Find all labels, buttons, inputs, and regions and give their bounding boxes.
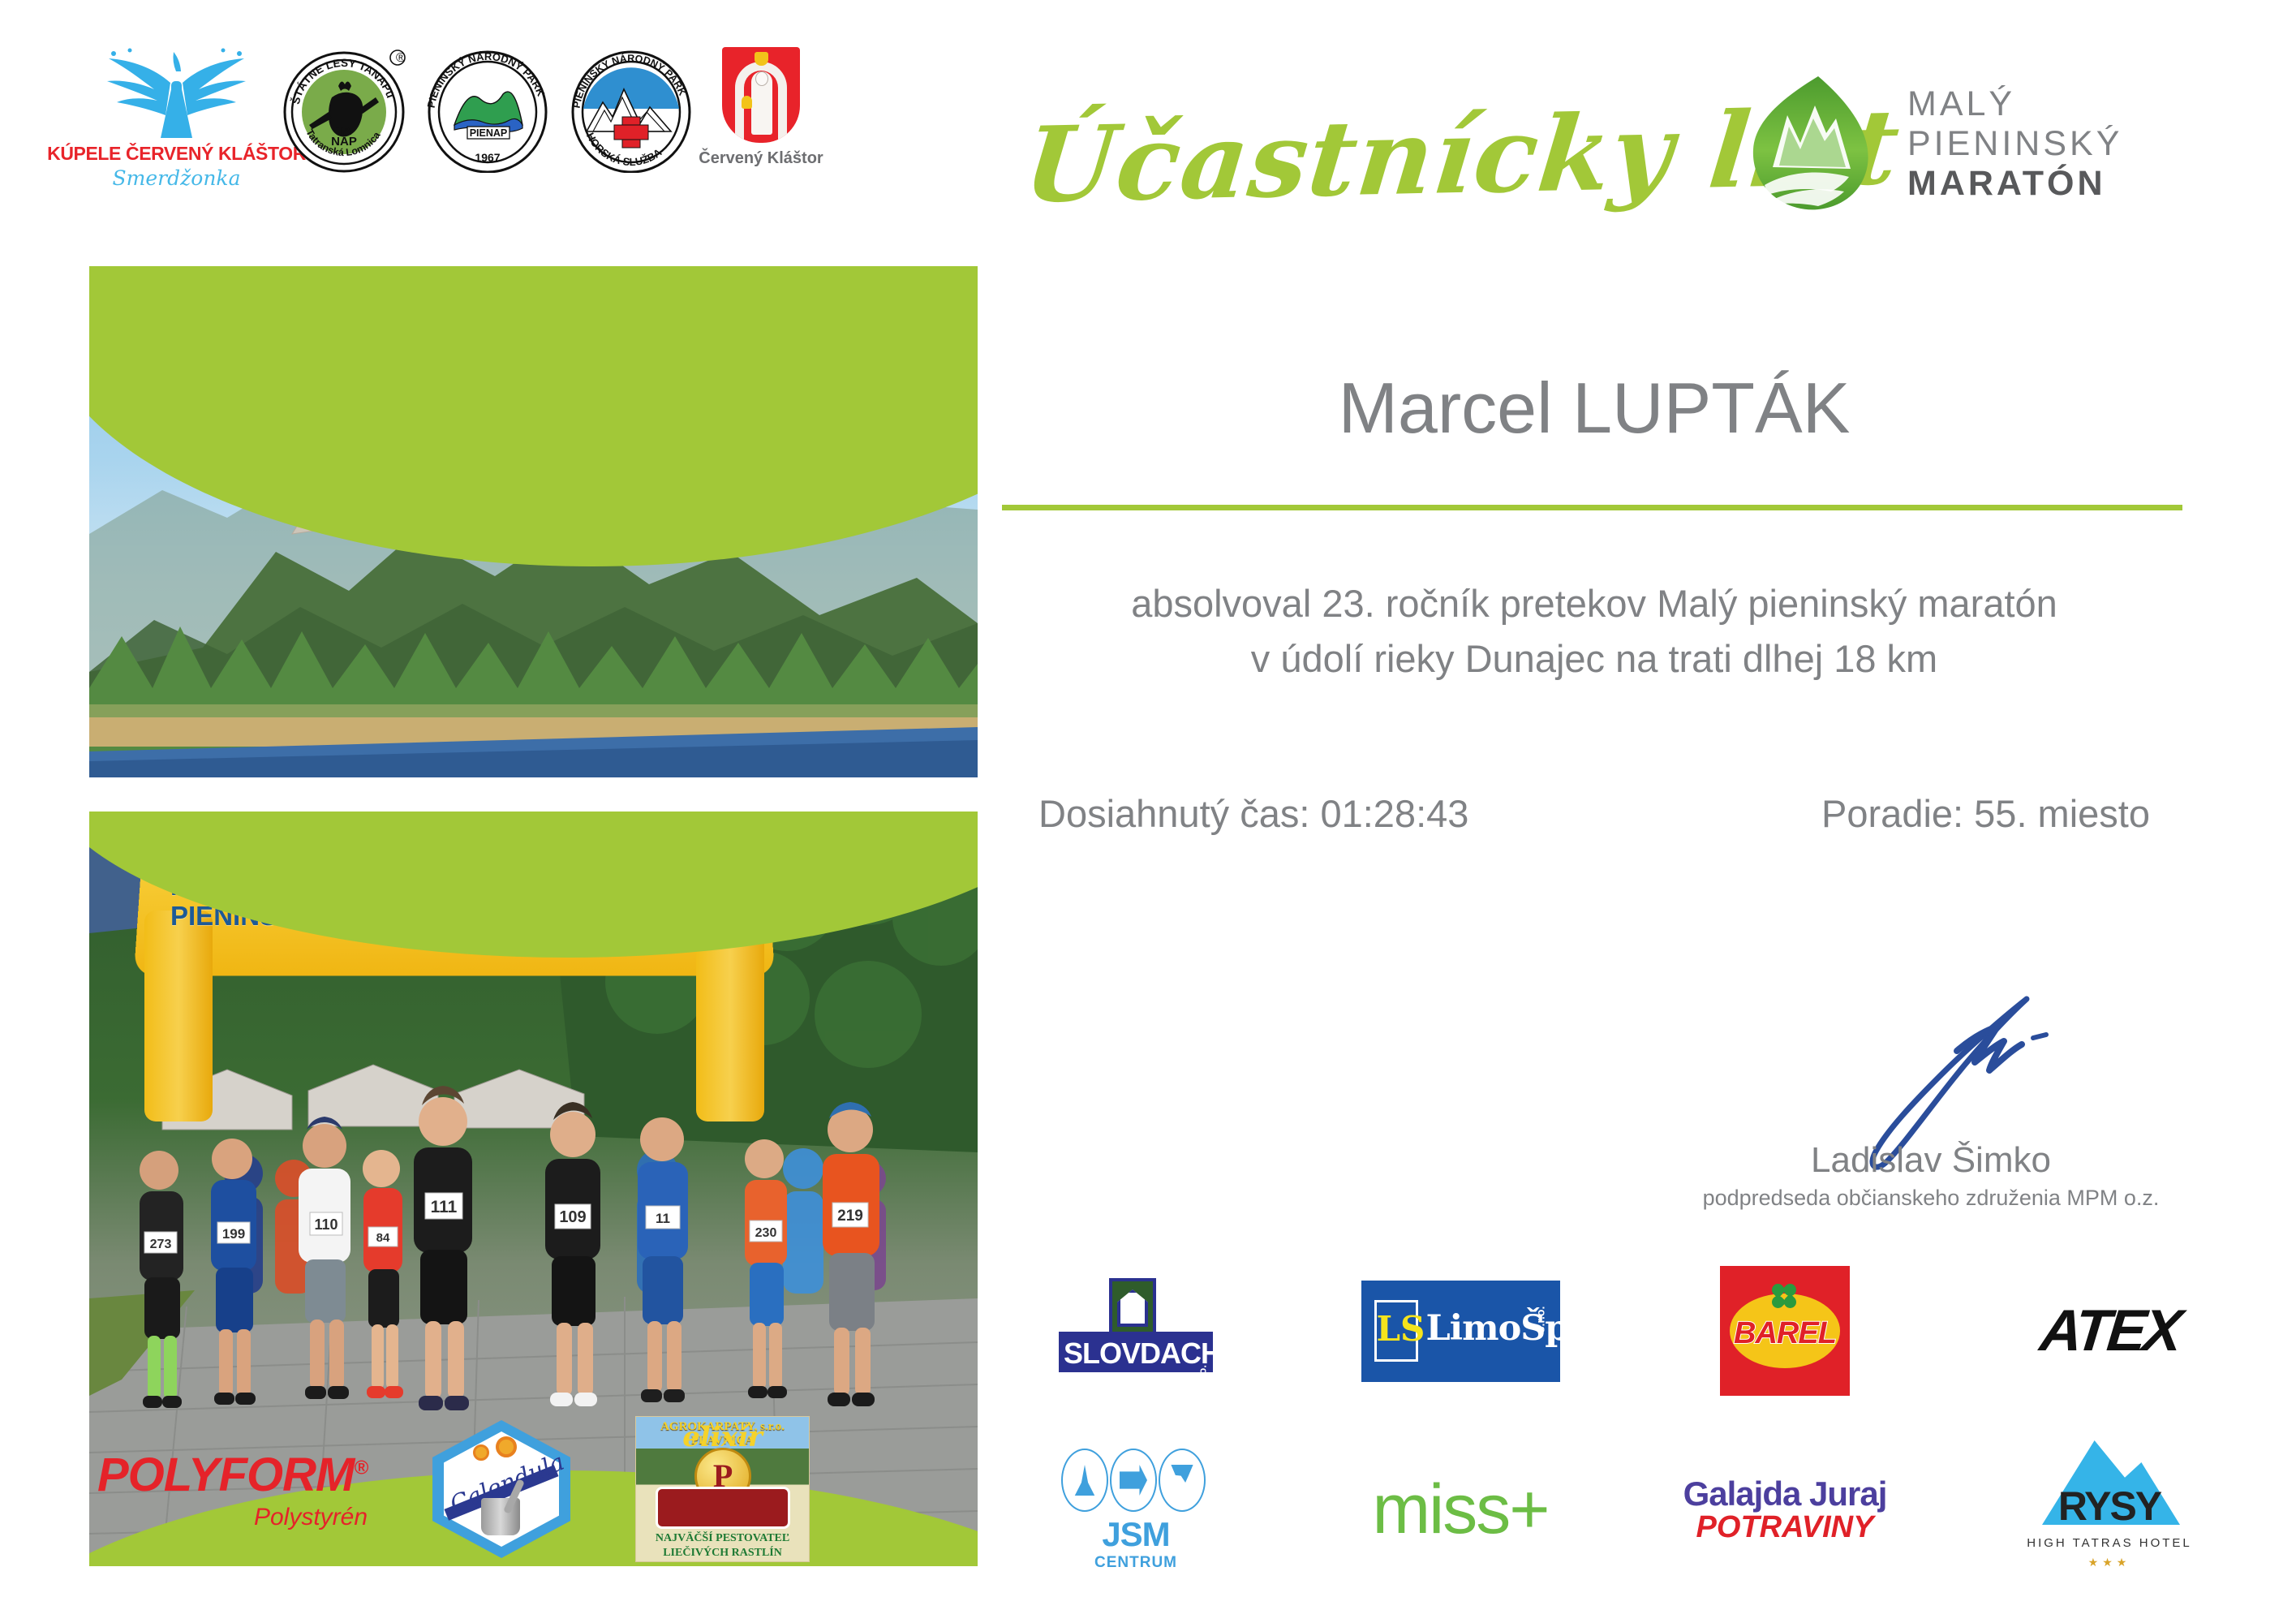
participant-name: Marcel LUPTÁK (1006, 367, 2182, 450)
photo-column: 110 111 (65, 252, 1002, 1388)
mountain-landscape-photo (89, 266, 978, 777)
cerveny-klastor-label: Červený Kláštor (699, 149, 823, 168)
water-wings-figure-icon (89, 47, 264, 143)
rysy-stars: ★★★ (2024, 1556, 2195, 1569)
jsm-tools-icon (1055, 1449, 1217, 1513)
svg-text:230: 230 (755, 1226, 777, 1240)
svg-text:199: 199 (222, 1226, 245, 1242)
miss-plus-name: miss+ (1373, 1470, 1549, 1550)
sponsor-limospes: LS LimoŠpes s.r.o. (1298, 1242, 1623, 1420)
svg-text:111: 111 (431, 1198, 458, 1216)
svg-text:PIENAP: PIENAP (470, 127, 508, 139)
brand-wordmark: MALÝ PIENINSKÝ MARATÓN (1907, 87, 2122, 201)
galajda-line-2: POTRAVINY (1683, 1510, 1887, 1545)
signature-block: Ladislav Šimko podpredseda občianskeho z… (1647, 1010, 2215, 1211)
svg-text:NAP: NAP (331, 135, 357, 149)
arch-line-2: PIENINSKÝ MARATÓN (170, 902, 457, 932)
brand-line-2: PIENINSKÝ (1907, 127, 2122, 161)
name-divider-rule (1002, 505, 2182, 510)
mountain-rescue-seal-icon: PIENINSKÝ NÁRODNÝ PARK HORSKÁ SLUŽBA (569, 47, 694, 173)
sponsor-miss-plus: miss+ (1298, 1420, 1623, 1599)
svg-text:110: 110 (314, 1216, 338, 1233)
kupele-label-line1: KÚPELE ČERVENÝ KLÁŠTOR (47, 143, 306, 165)
organiser-logo-pieninsky-narodny-park: PIENINSKÝ NÁRODNÝ PARK PIENAP 1967 (425, 47, 551, 173)
svg-text:84: 84 (376, 1231, 390, 1245)
sponsor-galajda-juraj: Galajda Juraj POTRAVINY (1623, 1420, 1947, 1599)
svg-text:273: 273 (150, 1238, 172, 1251)
sponsor-atex: ATEX (1947, 1242, 2272, 1420)
slovdach-suffix: s.r.o. (1196, 1365, 1208, 1389)
body-line-1: absolvoval 23. ročník pretekov Malý pien… (1006, 576, 2182, 631)
results-row: Dosiahnutý čas: 01:28:43 Poradie: 55. mi… (1006, 791, 2182, 836)
sponsor-rysy-hotel: RYSY HIGH TATRAS HOTEL ★★★ (1947, 1420, 2272, 1599)
organiser-logo-kupele-cerveny-klastor: KÚPELE ČERVENÝ KLÁŠTOR Smerdžonka (89, 47, 264, 190)
polyform-registered: ® (354, 1457, 368, 1479)
agrokarpaty-sub-1: NAJVÄČŠÍ PESTOVATEĽ (636, 1532, 809, 1545)
sponsor-polyform: POLYFORM® Polystyrén (97, 1448, 368, 1531)
brand-logo: MALÝ PIENINSKÝ MARATÓN (1740, 71, 2122, 216)
rysy-sub: HIGH TATRAS HOTEL (2024, 1536, 2195, 1550)
chamois-seal-icon: ŠTÁTNE LESY TANAPu Tatranská Lomnica TA … (282, 47, 407, 173)
clover-icon (1772, 1284, 1796, 1308)
agrokarpaty-sub-2: LIEČIVÝCH RASTLÍN (636, 1547, 809, 1560)
organiser-logo-cerveny-klastor: Červený Kláštor (712, 47, 810, 168)
inflatable-start-arch: MALÝ PIENINSKÝ MARATÓN (138, 854, 771, 1121)
pienap-seal-icon: PIENINSKÝ NÁRODNÝ PARK PIENAP 1967 (425, 47, 551, 173)
kupele-label-line2: Smerdžonka (113, 166, 241, 190)
svg-text:109: 109 (559, 1208, 586, 1226)
arch-line-1: MALÝ (170, 872, 457, 902)
svg-text:1967: 1967 (475, 151, 500, 164)
sponsors-grid: SLOVDACH s.r.o. LS LimoŠpes s.r.o. BARE (974, 1242, 2272, 1599)
sponsor-jsm-centrum: JSM CENTRUM (974, 1420, 1298, 1599)
jsm-name: JSM (1055, 1515, 1217, 1554)
signatory-role: podpredseda občianskeho združenia MPM o.… (1647, 1186, 2215, 1211)
certificate-page: KÚPELE ČERVENÝ KLÁŠTOR Smerdžonka ŠTÁTNE… (0, 0, 2296, 1623)
finish-time: Dosiahnutý čas: 01:28:43 (1038, 791, 1468, 836)
jsm-sub: CENTRUM (1055, 1554, 1217, 1572)
limospes-suffix: s.r.o. (1533, 1306, 1546, 1332)
coat-of-arms-monk-icon (722, 47, 800, 143)
polyform-tagline: Polystyrén (97, 1504, 368, 1531)
sponsors-left: POLYFORM® Polystyrén Calendula AGROKARPA… (97, 1416, 810, 1562)
galajda-line-1: Galajda Juraj (1683, 1474, 1887, 1513)
brand-line-1: MALÝ (1907, 87, 2122, 122)
agrokarpaty-brand: elixír (636, 1423, 809, 1451)
brand-line-3: MARATÓN (1907, 166, 2122, 201)
sponsor-barel: BAREL (1623, 1242, 1947, 1420)
svg-text:11: 11 (656, 1211, 670, 1226)
sponsor-calendula: Calendula (432, 1420, 570, 1558)
rysy-name: RYSY (2024, 1483, 2195, 1530)
atex-name: ATEX (2036, 1298, 2182, 1364)
organiser-logo-statne-lesy-tanapu: ŠTÁTNE LESY TANAPu Tatranská Lomnica TA … (282, 47, 407, 173)
signatory-name: Ladislav Šimko (1647, 1140, 2215, 1181)
organiser-logos: KÚPELE ČERVENÝ KLÁŠTOR Smerdžonka ŠTÁTNE… (89, 47, 810, 190)
limospes-mark: LS (1377, 1312, 1416, 1346)
rank-place: Poradie: 55. miesto (1821, 791, 2150, 836)
certificate-body: absolvoval 23. ročník pretekov Malý pien… (1006, 576, 2182, 687)
limospes-name: LimoŠpes (1426, 1308, 1609, 1349)
sponsor-agrokarpaty: AGROKARPATY, s.r.o. PLAVNICA P elixír NA… (635, 1416, 810, 1562)
organiser-logo-horska-sluzba: PIENINSKÝ NÁRODNÝ PARK HORSKÁ SLUŽBA (569, 47, 694, 173)
sponsor-slovdach: SLOVDACH s.r.o. (974, 1242, 1298, 1420)
svg-text:219: 219 (837, 1208, 863, 1225)
body-line-2: v údolí rieky Dunajec na trati dlhej 18 … (1006, 631, 2182, 687)
barel-name: BAREL (1720, 1316, 1850, 1351)
polyform-name: POLYFORM (97, 1449, 354, 1501)
leaf-mountain-logo (1740, 71, 1885, 216)
